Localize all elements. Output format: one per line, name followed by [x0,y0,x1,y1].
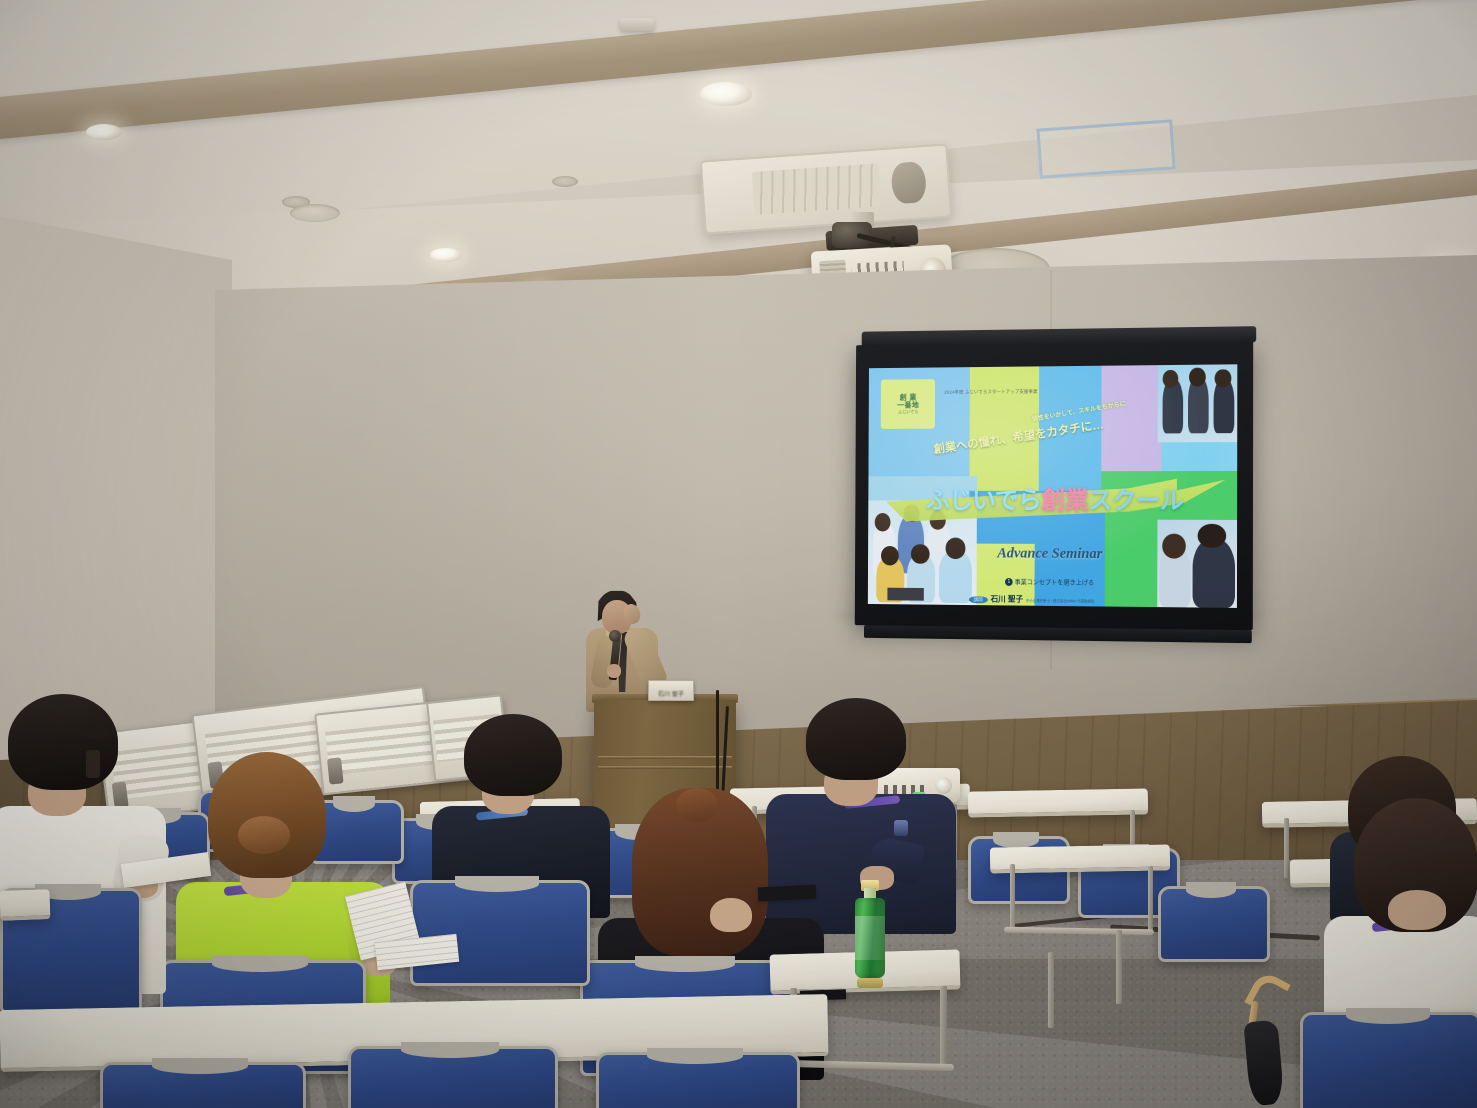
glasses-icon [82,728,108,738]
bottle-label [855,916,885,960]
table-leg [1148,866,1153,932]
slide-header-text: 2024年度 ふじいでらスタートアップ支援事業 [944,389,1037,396]
downlight-icon [430,248,462,262]
person-neck [710,898,752,932]
ac-vent-fan [890,161,927,204]
green-tea-bottle[interactable] [855,880,885,988]
person-hair [464,714,562,796]
podium-groove [598,756,732,759]
ceiling-access-hatch [1036,119,1175,178]
slide-lecturer-name: 石川 聖子 [991,594,1024,603]
seminar-room-photo: 創 業 一番地 ふじいでら 2024年度 ふじいでらスタートアップ支援事業 個性… [0,0,1477,1108]
chair[interactable] [100,1062,300,1108]
person-neck [1388,890,1446,930]
slide-photo-top-right [1158,364,1238,442]
downlight-off-icon [552,176,578,187]
chair[interactable] [410,880,584,980]
slide-series-label: Advance Seminar [868,545,1237,564]
downlight-icon [700,82,752,106]
person-hair [806,698,906,780]
table [990,844,1170,873]
chair[interactable] [348,1046,552,1108]
table-leg [940,986,947,1070]
slide-logo-line2: 一番地 [897,402,919,410]
table-leg [1284,818,1289,878]
slide-title-part3: スクール [1088,487,1183,515]
projected-slide: 創 業 一番地 ふじいでら 2024年度 ふじいでらスタートアップ支援事業 個性… [868,364,1237,608]
microphone-head-icon [609,630,621,642]
person-hair-bun [238,816,290,854]
person-hair [8,694,118,790]
downlight-icon [86,124,122,140]
slide-title-part2: 創業 [1041,487,1088,515]
name-placard-text: 石川 聖子 [658,689,684,698]
slide-lecturer-badge: 講師 [969,596,988,603]
bottle-base [857,978,883,988]
table-leg [1010,864,1015,928]
table-leg [1116,930,1122,1004]
ac-vent-grille [751,163,881,215]
polo-chest-emblem [894,820,908,836]
chair[interactable] [596,1052,794,1108]
projection-screen: 創 業 一番地 ふじいでら 2024年度 ふじいでらスタートアップ支援事業 個性… [855,340,1253,630]
person-hair [208,752,326,878]
person-hair-bun [676,788,718,822]
slide-photo-bottom-right [1157,520,1237,608]
slide-session-number: 1 [1005,578,1013,586]
chair[interactable] [1300,1012,1476,1108]
mask-strap [86,750,100,778]
table [968,788,1148,817]
slide-color-block [1102,365,1162,476]
slide-session-title: 事業コンセプトを磨き上げる [1015,579,1095,587]
table-leg [1048,952,1054,1028]
name-placard: 石川 聖子 [648,680,694,701]
umbrella-canopy [1243,1020,1284,1107]
podium-groove [598,766,732,769]
ceiling-speaker-icon [290,204,340,222]
umbrella[interactable] [1247,975,1295,1105]
slide-lecturer-affiliation: 中小企業診断士 / 株式会社MIRAI 代表取締役 [1026,599,1095,604]
slide-title: ふじいでら創業スクール [879,481,1233,517]
slide-logo: 創 業 一番地 ふじいでら [881,379,935,429]
slide-logo-line3: ふじいでら [898,410,918,414]
slide-lecturer-line: 講師石川 聖子中小企業診断士 / 株式会社MIRAI 代表取締役 [969,593,1095,605]
chair[interactable] [1158,886,1264,956]
smoke-detector-icon [620,18,654,31]
slide-title-part1: ふじいでら [926,487,1041,515]
presenter-hand-left [607,664,621,678]
table [0,889,51,921]
